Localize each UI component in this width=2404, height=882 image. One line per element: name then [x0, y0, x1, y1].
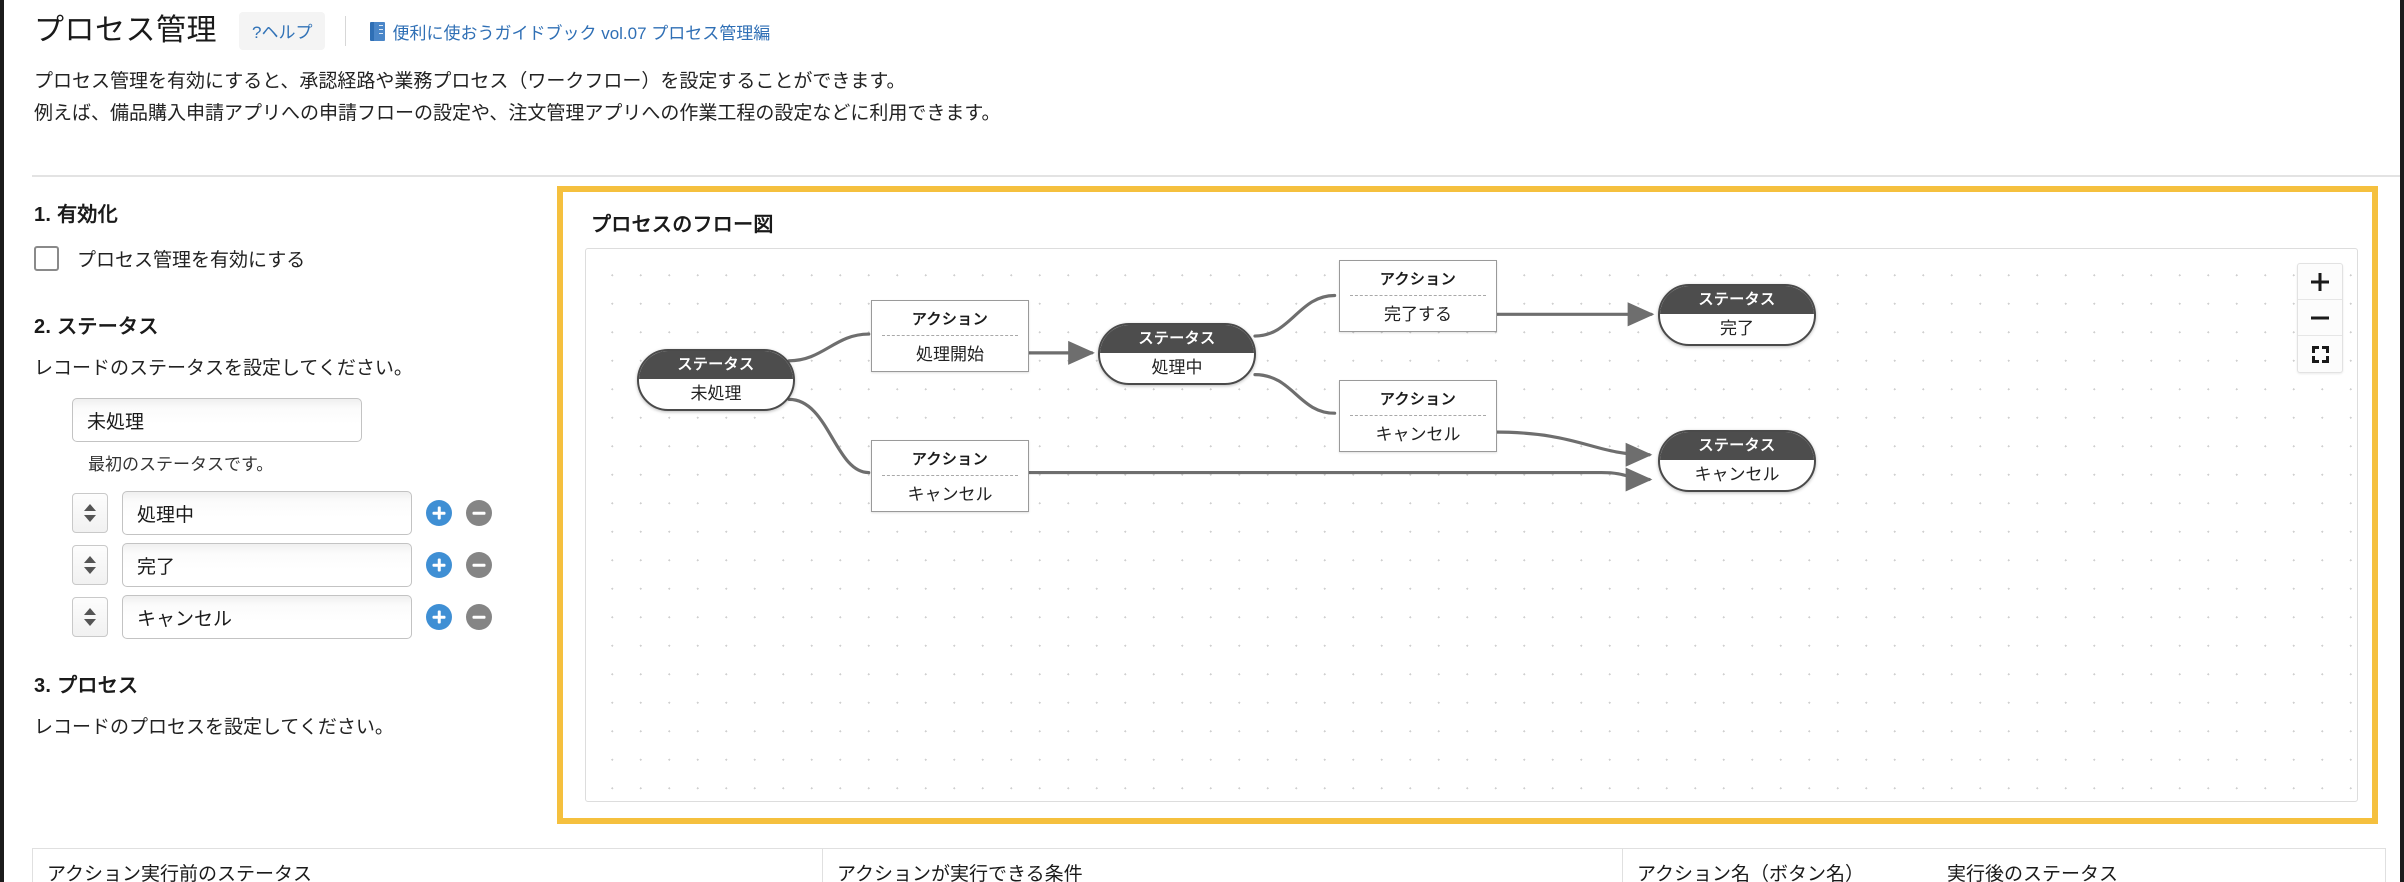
status-input-first[interactable]: [72, 398, 362, 442]
flow-node-name: 処理開始: [872, 336, 1028, 372]
remove-status-button[interactable]: [466, 500, 492, 526]
flow-diagram-canvas[interactable]: ステータス 未処理 アクション 処理開始 アクション キャンセル ステータス 処…: [585, 248, 2358, 802]
flow-node-action-cancel-from-shorichu[interactable]: アクション キャンセル: [1339, 380, 1497, 452]
flow-node-type-label: アクション: [882, 301, 1018, 336]
flow-node-status-kanryo[interactable]: ステータス 完了: [1658, 284, 1816, 346]
flow-node-action-kanryo[interactable]: アクション 完了する: [1339, 260, 1497, 332]
process-flow-panel: プロセスのフロー図: [557, 186, 2378, 824]
description-line-2: 例えば、備品購入申請アプリへの申請フローの設定や、注文管理アプリへの作業工程の設…: [34, 98, 1001, 130]
flow-node-type-label: アクション: [882, 441, 1018, 476]
flow-node-name: 未処理: [639, 379, 793, 409]
flow-node-type-label: ステータス: [1660, 286, 1814, 314]
status-reorder-spinner[interactable]: [72, 545, 108, 585]
guidebook-link-label: 便利に使おうガイドブック vol.07 プロセス管理編: [392, 19, 770, 44]
status-input[interactable]: [122, 595, 412, 639]
status-input[interactable]: [122, 543, 412, 587]
header-divider: [345, 16, 346, 46]
add-status-button[interactable]: [426, 552, 452, 578]
flow-node-name: キャンセル: [1660, 460, 1814, 490]
arrow-up-icon: [84, 556, 96, 563]
remove-status-button[interactable]: [466, 604, 492, 630]
guidebook-link[interactable]: 便利に使おうガイドブック vol.07 プロセス管理編: [370, 19, 770, 44]
column-header-before-status: アクション実行前のステータス: [33, 849, 823, 882]
status-list: [72, 491, 554, 639]
status-row: [72, 595, 554, 639]
flow-node-type-label: ステータス: [1100, 325, 1254, 353]
description-line-1: プロセス管理を有効にすると、承認経路や業務プロセス（ワークフロー）を設定すること…: [34, 66, 1001, 98]
status-row: [72, 491, 554, 535]
flow-node-status-cancel[interactable]: ステータス キャンセル: [1658, 430, 1816, 492]
status-row: [72, 543, 554, 587]
flow-node-action-cancel-from-mishori[interactable]: アクション キャンセル: [871, 440, 1029, 512]
add-status-button[interactable]: [426, 500, 452, 526]
arrow-up-icon: [84, 608, 96, 615]
page-header: プロセス管理 ?ヘルプ 便利に使おうガイドブック vol.07 プロセス管理編: [34, 12, 770, 50]
enable-process-row[interactable]: プロセス管理を有効にする: [34, 245, 554, 272]
flow-node-type-label: ステータス: [639, 351, 793, 379]
status-first-note: 最初のステータスです。: [88, 450, 554, 475]
column-header-action-name: アクション名（ボタン名）: [1623, 849, 1933, 882]
status-reorder-spinner[interactable]: [72, 493, 108, 533]
plus-icon: [2311, 273, 2329, 291]
flow-node-action-kaishi[interactable]: アクション 処理開始: [871, 300, 1029, 372]
arrow-down-icon: [84, 619, 96, 626]
status-reorder-spinner[interactable]: [72, 597, 108, 637]
process-table-header-row: アクション実行前のステータス アクションが実行できる条件 アクション名（ボタン名…: [33, 849, 2385, 882]
flow-node-type-label: アクション: [1350, 381, 1486, 416]
enable-process-checkbox[interactable]: [34, 246, 59, 271]
process-section-note: レコードのプロセスを設定してください。: [34, 712, 554, 739]
process-table: アクション実行前のステータス アクションが実行できる条件 アクション名（ボタン名…: [32, 848, 2386, 882]
flow-node-type-label: アクション: [1350, 261, 1486, 296]
page-title: プロセス管理: [34, 16, 217, 46]
zoom-out-button[interactable]: [2298, 300, 2342, 336]
page-description: プロセス管理を有効にすると、承認経路や業務プロセス（ワークフロー）を設定すること…: [34, 66, 1001, 130]
flow-node-name: キャンセル: [872, 476, 1028, 512]
book-icon: [370, 22, 385, 41]
minus-icon: [2311, 309, 2329, 327]
section-heading-process: 3. プロセス: [34, 669, 554, 698]
flow-diagram-title: プロセスのフロー図: [591, 208, 774, 237]
process-management-page: プロセス管理 ?ヘルプ 便利に使おうガイドブック vol.07 プロセス管理編 …: [0, 0, 2404, 882]
header-section-divider: [32, 175, 2400, 177]
zoom-in-button[interactable]: [2298, 264, 2342, 300]
help-button[interactable]: ?ヘルプ: [239, 12, 325, 50]
column-header-condition: アクションが実行できる条件: [823, 849, 1623, 882]
arrow-up-icon: [84, 504, 96, 511]
flow-node-name: キャンセル: [1340, 416, 1496, 452]
flow-node-name: 完了: [1660, 314, 1814, 344]
add-status-button[interactable]: [426, 604, 452, 630]
flow-node-name: 処理中: [1100, 353, 1254, 383]
section-heading-status: 2. ステータス: [34, 310, 554, 339]
flow-node-type-label: ステータス: [1660, 432, 1814, 460]
fit-to-screen-button[interactable]: [2298, 336, 2342, 372]
column-header-after-status: 実行後のステータス: [1933, 849, 2385, 882]
flow-node-status-mishori[interactable]: ステータス 未処理: [637, 349, 795, 411]
section-heading-enable: 1. 有効化: [34, 198, 554, 227]
flow-node-name: 完了する: [1340, 296, 1496, 332]
arrow-down-icon: [84, 515, 96, 522]
canvas-zoom-controls: [2297, 263, 2343, 373]
status-input[interactable]: [122, 491, 412, 535]
arrow-down-icon: [84, 567, 96, 574]
remove-status-button[interactable]: [466, 552, 492, 578]
enable-process-label[interactable]: プロセス管理を有効にする: [77, 245, 305, 272]
status-section-note: レコードのステータスを設定してください。: [34, 353, 554, 380]
fit-screen-icon: [2312, 346, 2329, 363]
settings-column: 1. 有効化 プロセス管理を有効にする 2. ステータス レコードのステータスを…: [34, 198, 554, 757]
flow-node-status-shorichu[interactable]: ステータス 処理中: [1098, 323, 1256, 385]
